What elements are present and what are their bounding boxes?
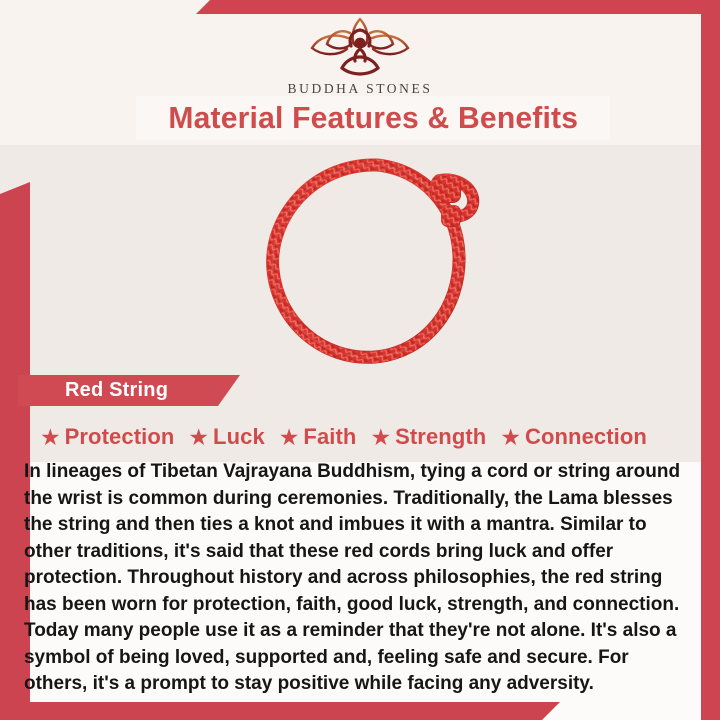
star-icon: ★ [279, 426, 300, 449]
benefit-label: Protection [65, 424, 175, 450]
description-paragraph: In lineages of Tibetan Vajrayana Buddhis… [24, 459, 686, 698]
benefit-item: ★ Protection [40, 424, 174, 450]
product-name: Red String [65, 379, 168, 402]
benefit-label: Luck [213, 424, 265, 450]
benefit-item: ★ Connection [500, 424, 647, 450]
benefit-item: ★ Luck [188, 424, 264, 450]
page-title-band: Material Features & Benefits [136, 96, 610, 140]
star-icon: ★ [40, 426, 61, 449]
lotus-meditation-icon [298, 16, 422, 78]
star-icon: ★ [188, 426, 209, 449]
brand-logo: BUDDHA STONES [0, 16, 720, 97]
benefit-item: ★ Strength [370, 424, 486, 450]
frame-bar-top [196, 0, 720, 14]
benefits-list: ★ Protection ★ Luck ★ Faith ★ Strength ★… [40, 420, 700, 454]
benefit-label: Strength [395, 424, 486, 450]
frame-bar-bottom [0, 702, 560, 720]
page-title: Material Features & Benefits [168, 100, 578, 136]
frame-bar-right [701, 0, 720, 720]
infographic-page: BUDDHA STONES Material Features & Benefi… [0, 0, 720, 720]
red-string-bracelet-image [225, 150, 505, 375]
star-icon: ★ [370, 426, 391, 449]
brand-name: BUDDHA STONES [288, 81, 433, 97]
star-icon: ★ [500, 426, 521, 449]
benefit-label: Connection [525, 424, 647, 450]
benefit-label: Faith [303, 424, 356, 450]
benefit-item: ★ Faith [279, 424, 357, 450]
product-name-banner: Red String [18, 375, 240, 406]
